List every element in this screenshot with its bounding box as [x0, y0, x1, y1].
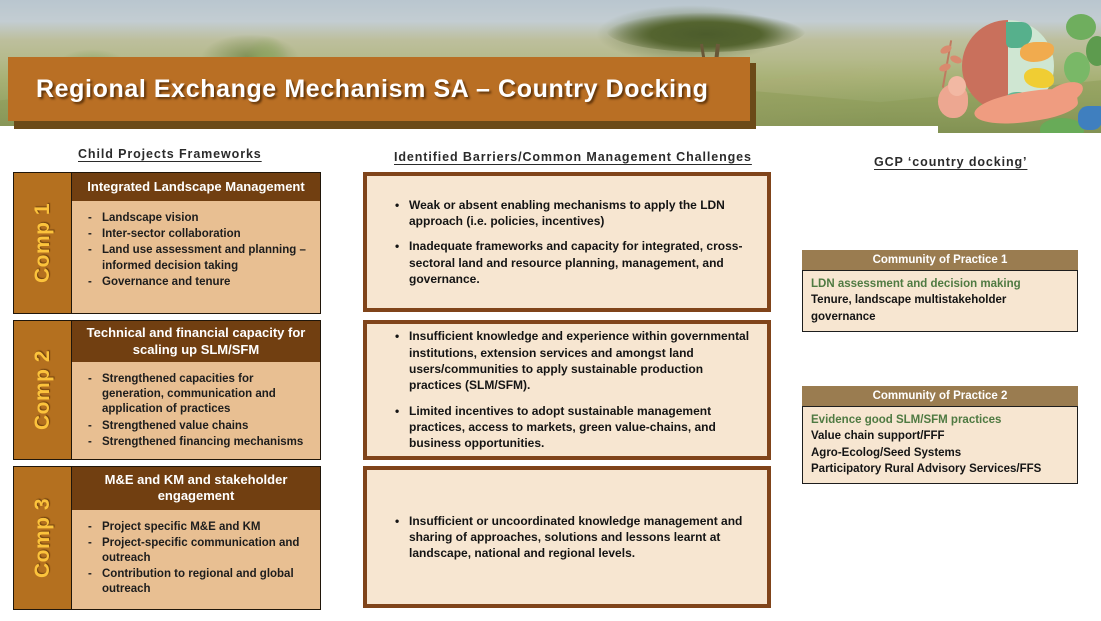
page-title: Regional Exchange Mechanism SA – Country…: [36, 75, 708, 104]
component-item-list-3: - Project specific M&E and KM - Project-…: [72, 510, 320, 610]
list-item: Participatory Rural Advisory Services/FF…: [811, 461, 1069, 477]
component-tab-label: Comp 2: [31, 350, 55, 430]
list-item-label: Strengthened financing mechanisms: [102, 435, 303, 450]
list-item: Evidence good SLM/SFM practices: [811, 412, 1069, 428]
barrier-card-1[interactable]: • Weak or absent enabling mechanisms to …: [363, 172, 771, 312]
component-tab-label: Comp 3: [31, 498, 55, 578]
list-item: - Strengthened financing mechanisms: [88, 435, 310, 450]
foliage-leaf-icon: [1066, 14, 1096, 40]
list-item: Tenure, landscape multistakeholder gover…: [811, 292, 1069, 325]
list-item: Value chain support/FFF: [811, 428, 1069, 444]
bullet-dot-icon: •: [395, 238, 409, 287]
list-item-label: Inter-sector collaboration: [102, 227, 241, 242]
dash-bullet-icon: -: [88, 211, 102, 226]
bullet-dot-icon: •: [395, 328, 409, 393]
bullet-dot-icon: •: [395, 403, 409, 452]
list-item: - Governance and tenure: [88, 275, 310, 290]
water-drop-leaf-icon: [1078, 106, 1101, 130]
barrier-list-3: • Insufficient or uncoordinated knowledg…: [367, 509, 767, 566]
dash-bullet-icon: -: [88, 536, 102, 566]
list-item: • Weak or absent enabling mechanisms to …: [395, 197, 751, 230]
component-tab-3: Comp 3: [14, 467, 72, 609]
list-item-label: Insufficient or uncoordinated knowledge …: [409, 513, 751, 562]
component-card-2[interactable]: Comp 2 Technical and financial capacity …: [13, 320, 321, 460]
list-item-label: Inadequate frameworks and capacity for i…: [409, 238, 751, 287]
list-item-label: Landscape vision: [102, 211, 199, 226]
list-item: • Inadequate frameworks and capacity for…: [395, 238, 751, 287]
list-item: - Landscape vision: [88, 211, 310, 226]
list-item: • Insufficient or uncoordinated knowledg…: [395, 513, 751, 562]
community-of-practice-title-1: Community of Practice 1: [802, 250, 1078, 270]
barrier-card-2[interactable]: • Insufficient knowledge and experience …: [363, 320, 771, 460]
bullet-dot-icon: •: [395, 513, 409, 562]
component-item-list-2: - Strengthened capacities for generation…: [72, 362, 320, 459]
foliage-leaf-icon: [1064, 52, 1090, 84]
list-item-label: Strengthened capacities for generation, …: [102, 372, 310, 418]
component-tab-2: Comp 2: [14, 321, 72, 459]
acacia-tree-canopy-icon: [606, 8, 806, 52]
dash-bullet-icon: -: [88, 419, 102, 434]
hand-small-knuckle-icon: [948, 76, 966, 96]
column-header-gcp-country-docking: GCP ‘country docking’: [874, 155, 1027, 169]
list-item-label: Project-specific communication and outre…: [102, 536, 310, 566]
globe-in-hands-illustration: [938, 6, 1101, 133]
list-item: - Inter-sector collaboration: [88, 227, 310, 242]
dash-bullet-icon: -: [88, 243, 102, 273]
component-item-list-1: - Landscape vision - Inter-sector collab…: [72, 201, 320, 313]
component-tab-1: Comp 1: [14, 173, 72, 313]
globe-landmass-icon: [1024, 68, 1054, 88]
list-item: - Project specific M&E and KM: [88, 520, 310, 535]
barrier-list-2: • Insufficient knowledge and experience …: [367, 324, 767, 455]
barrier-card-3[interactable]: • Insufficient or uncoordinated knowledg…: [363, 466, 771, 608]
component-body-3: M&E and KM and stakeholder engagement - …: [72, 467, 320, 609]
list-item-label: Governance and tenure: [102, 275, 230, 290]
component-card-3[interactable]: Comp 3 M&E and KM and stakeholder engage…: [13, 466, 321, 610]
sprig-leaf-icon: [939, 44, 953, 56]
barrier-list-1: • Weak or absent enabling mechanisms to …: [367, 193, 767, 292]
community-of-practice-card-2[interactable]: Community of Practice 2 Evidence good SL…: [802, 386, 1078, 484]
list-item-label: Land use assessment and planning – infor…: [102, 243, 310, 273]
component-card-1[interactable]: Comp 1 Integrated Landscape Management -…: [13, 172, 321, 314]
column-header-identified-barriers: Identified Barriers/Common Management Ch…: [394, 150, 752, 164]
bullet-dot-icon: •: [395, 197, 409, 230]
list-item: - Contribution to regional and global ou…: [88, 567, 310, 597]
dash-bullet-icon: -: [88, 567, 102, 597]
component-title-3: M&E and KM and stakeholder engagement: [72, 467, 320, 510]
list-item: - Project-specific communication and out…: [88, 536, 310, 566]
component-title-2: Technical and financial capacity for sca…: [72, 321, 320, 362]
dash-bullet-icon: -: [88, 435, 102, 450]
community-of-practice-title-2: Community of Practice 2: [802, 386, 1078, 406]
dash-bullet-icon: -: [88, 227, 102, 242]
list-item: - Strengthened capacities for generation…: [88, 372, 310, 418]
list-item: • Limited incentives to adopt sustainabl…: [395, 403, 751, 452]
community-of-practice-body-1: LDN assessment and decision making Tenur…: [802, 270, 1078, 332]
column-header-child-projects: Child Projects Frameworks: [78, 147, 262, 161]
list-item-label: Strengthened value chains: [102, 419, 248, 434]
component-title-1: Integrated Landscape Management: [72, 173, 320, 201]
community-of-practice-card-1[interactable]: Community of Practice 1 LDN assessment a…: [802, 250, 1078, 332]
list-item: Agro-Ecolog/Seed Systems: [811, 445, 1069, 461]
component-tab-label: Comp 1: [31, 203, 55, 283]
list-item-label: Contribution to regional and global outr…: [102, 567, 310, 597]
list-item: - Land use assessment and planning – inf…: [88, 243, 310, 273]
list-item-label: Weak or absent enabling mechanisms to ap…: [409, 197, 751, 230]
title-bar: Regional Exchange Mechanism SA – Country…: [8, 57, 750, 121]
component-body-1: Integrated Landscape Management - Landsc…: [72, 173, 320, 313]
sprig-leaf-icon: [949, 54, 963, 65]
component-body-2: Technical and financial capacity for sca…: [72, 321, 320, 459]
list-item: - Strengthened value chains: [88, 419, 310, 434]
dash-bullet-icon: -: [88, 372, 102, 418]
community-of-practice-body-2: Evidence good SLM/SFM practices Value ch…: [802, 406, 1078, 484]
dash-bullet-icon: -: [88, 275, 102, 290]
list-item-label: Limited incentives to adopt sustainable …: [409, 403, 751, 452]
list-item: LDN assessment and decision making: [811, 276, 1069, 292]
list-item: • Insufficient knowledge and experience …: [395, 328, 751, 393]
list-item-label: Insufficient knowledge and experience wi…: [409, 328, 751, 393]
dash-bullet-icon: -: [88, 520, 102, 535]
list-item-label: Project specific M&E and KM: [102, 520, 260, 535]
